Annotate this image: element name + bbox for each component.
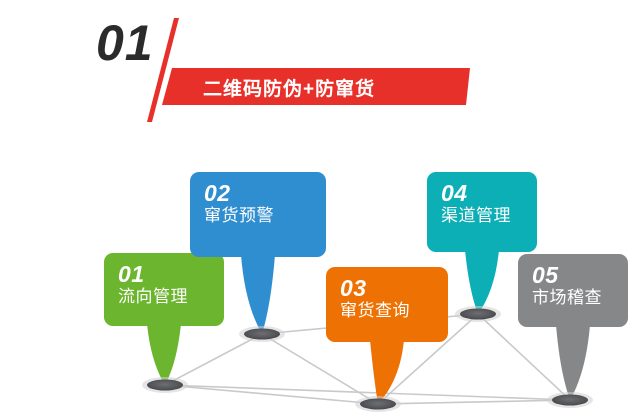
pin-card-04[interactable]: 04渠道管理 <box>427 172 537 252</box>
pin-base <box>360 399 396 410</box>
pin-tail <box>147 324 181 385</box>
pin-number: 03 <box>340 276 436 300</box>
pin-number: 01 <box>118 262 212 286</box>
pin-tail <box>465 250 499 314</box>
connection-line <box>165 385 378 404</box>
pin-network-diagram: 01流向管理02窜货预警03窜货查询04渠道管理05市场稽查 <box>0 0 643 417</box>
pin-base <box>552 395 588 406</box>
pin-tail <box>241 255 275 334</box>
pin-label: 市场稽查 <box>532 287 616 308</box>
pin-number: 04 <box>441 181 525 205</box>
pin-label: 窜货预警 <box>204 205 314 226</box>
pin-base <box>147 380 183 391</box>
pin-label: 渠道管理 <box>441 205 525 226</box>
pin-card-02[interactable]: 02窜货预警 <box>190 172 326 257</box>
connection-line <box>165 334 262 385</box>
pin-tail <box>556 325 590 400</box>
connection-line <box>378 400 570 404</box>
pin-number: 05 <box>532 263 616 287</box>
pin-card-03[interactable]: 03窜货查询 <box>326 267 448 342</box>
pin-card-01[interactable]: 01流向管理 <box>104 253 224 326</box>
pin-label: 窜货查询 <box>340 300 436 321</box>
pin-label: 流向管理 <box>118 286 212 307</box>
pin-base <box>244 329 280 340</box>
slide-canvas: 01 二维码防伪+防窜货 01流向管理02窜货预警03窜货查询04渠道管理05市… <box>0 0 643 417</box>
pin-number: 02 <box>204 181 314 205</box>
pin-card-05[interactable]: 05市场稽查 <box>518 254 628 327</box>
pin-base <box>460 309 496 320</box>
connection-line <box>262 334 378 404</box>
